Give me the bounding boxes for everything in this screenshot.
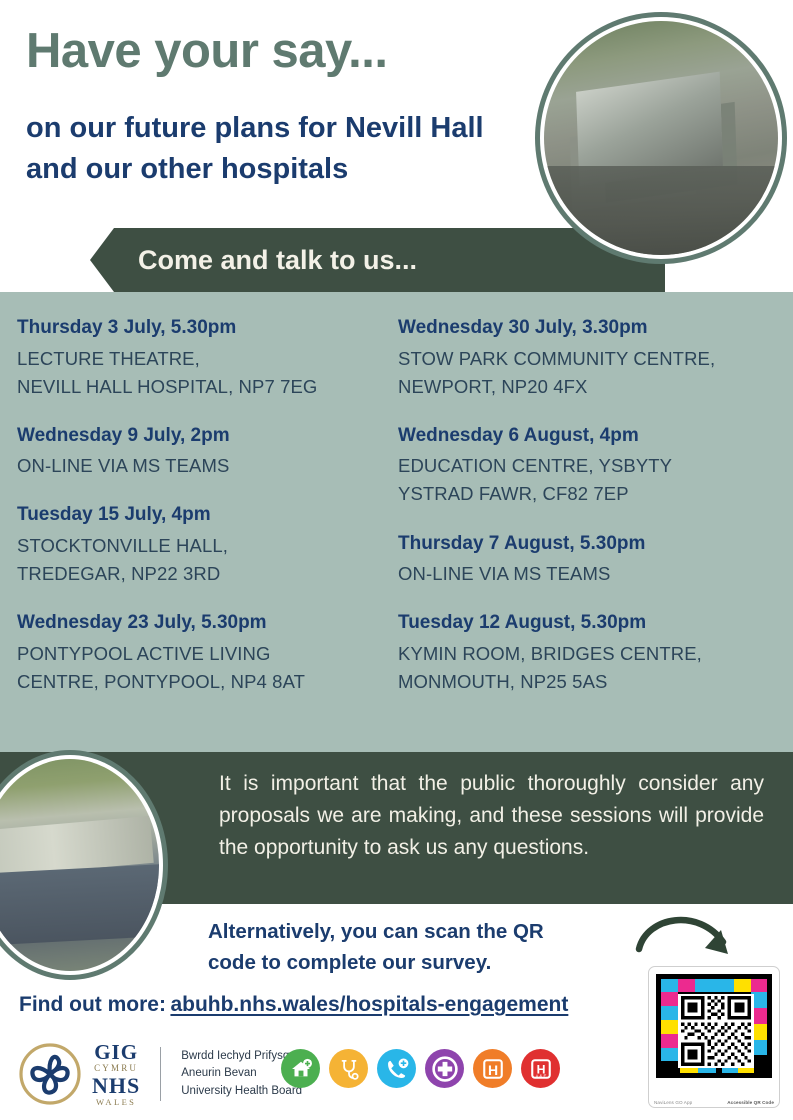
curved-arrow-icon (633, 902, 743, 972)
accident-emergency-icon: H A & E (521, 1049, 560, 1088)
event-venue-line: LECTURE THEATRE, (17, 345, 395, 373)
event-venue-line: EDUCATION CENTRE, YSBYTY (398, 452, 786, 480)
service-icon-row: H H A & E (281, 1049, 560, 1088)
event-date: Wednesday 9 July, 2pm (17, 422, 395, 450)
event-venue-line: NEVILL HALL HOSPITAL, NP7 7EG (17, 373, 395, 401)
grange-photo-image (0, 759, 159, 971)
event-venue-line: STOCKTONVILLE HALL, (17, 532, 395, 560)
wales-text: WALES (96, 1098, 136, 1107)
hero-hospital-photo (535, 12, 787, 264)
poster-root: Have your say... on our future plans for… (0, 0, 793, 1120)
event-date: Tuesday 12 August, 5.30pm (398, 609, 786, 637)
engagement-url-link[interactable]: abuhb.nhs.wales/hospitals-engagement (170, 993, 568, 1016)
event-venue-line: CENTRE, PONTYPOOL, NP4 8AT (17, 668, 395, 696)
events-panel: Thursday 3 July, 5.30pm LECTURE THEATRE,… (0, 292, 793, 752)
event-venue-line: TREDEGAR, NP22 3RD (17, 560, 395, 588)
event-venue-line: KYMIN ROOM, BRIDGES CENTRE, (398, 640, 786, 668)
gig-text: GIG (94, 1042, 138, 1063)
event-item: Thursday 3 July, 5.30pm LECTURE THEATRE,… (17, 314, 395, 401)
nhs-text: NHS (92, 1075, 140, 1097)
stethoscope-icon (329, 1049, 368, 1088)
page-subtitle: on our future plans for Nevill Hall and … (26, 108, 526, 190)
event-date: Tuesday 15 July, 4pm (17, 501, 395, 529)
home-plus-icon (281, 1049, 320, 1088)
qr-type-caption: Accessible QR Code (727, 1100, 774, 1105)
event-item: Wednesday 30 July, 3.30pm STOW PARK COMM… (398, 314, 786, 401)
events-column-left: Thursday 3 July, 5.30pm LECTURE THEATRE,… (17, 314, 395, 717)
event-venue-line: YSTRAD FAWR, CF82 7EP (398, 480, 786, 508)
qr-matrix (680, 996, 752, 1066)
qr-app-caption: NaviLens GO App (654, 1100, 692, 1105)
qr-caption-row: NaviLens GO App Accessible QR Code (649, 1100, 779, 1105)
events-column-right: Wednesday 30 July, 3.30pm STOW PARK COMM… (398, 314, 786, 717)
cymru-text: CYMRU (94, 1064, 138, 1073)
event-item: Tuesday 12 August, 5.30pm KYMIN ROOM, BR… (398, 609, 786, 696)
page-title: Have your say... (26, 26, 388, 77)
celtic-knot-icon (18, 1042, 82, 1106)
banner-label: Come and talk to us... (138, 228, 417, 292)
hero-photo-ring (540, 17, 782, 259)
event-item: Thursday 7 August, 5.30pm ON-LINE VIA MS… (398, 530, 786, 589)
event-item: Tuesday 15 July, 4pm STOCKTONVILLE HALL,… (17, 501, 395, 588)
alternative-line-2: code to complete our survey. (208, 947, 628, 978)
event-item: Wednesday 23 July, 5.30pm PONTYPOOL ACTI… (17, 609, 395, 696)
nhs-wales-logo: GIG CYMRU NHS WALES Bwrdd Iechyd Prifysg… (18, 1042, 302, 1107)
medical-cross-icon (425, 1049, 464, 1088)
event-venue-line: PONTYPOOL ACTIVE LIVING (17, 640, 395, 668)
alternative-line-1: Alternatively, you can scan the QR (208, 916, 628, 947)
event-item: Wednesday 6 August, 4pm EDUCATION CENTRE… (398, 422, 786, 509)
hero-photo-image (544, 21, 778, 255)
qr-code-card[interactable]: NaviLens GO App Accessible QR Code (648, 966, 780, 1108)
hospital-h-icon: H (473, 1049, 512, 1088)
event-venue-line: NEWPORT, NP20 4FX (398, 373, 786, 401)
alternative-text: Alternatively, you can scan the QR code … (208, 916, 628, 978)
svg-text:A & E: A & E (535, 1073, 546, 1078)
event-venue-line: ON-LINE VIA MS TEAMS (398, 560, 786, 588)
phone-plus-icon (377, 1049, 416, 1088)
qr-code-image (656, 974, 772, 1078)
logo-divider (160, 1047, 161, 1101)
event-venue-line: MONMOUTH, NP25 5AS (398, 668, 786, 696)
event-date: Wednesday 30 July, 3.30pm (398, 314, 786, 342)
svg-text:H: H (487, 1062, 497, 1078)
event-date: Thursday 3 July, 5.30pm (17, 314, 395, 342)
event-venue-line: STOW PARK COMMUNITY CENTRE, (398, 345, 786, 373)
quote-text: It is important that the public thorough… (219, 768, 764, 864)
event-date: Wednesday 6 August, 4pm (398, 422, 786, 450)
grange-photo-ring (0, 755, 163, 975)
event-date: Wednesday 23 July, 5.30pm (17, 609, 395, 637)
event-venue-line: ON-LINE VIA MS TEAMS (17, 452, 395, 480)
find-out-more-label: Find out more: (19, 993, 166, 1016)
nhs-wordmark: GIG CYMRU NHS WALES (92, 1042, 140, 1107)
event-item: Wednesday 9 July, 2pm ON-LINE VIA MS TEA… (17, 422, 395, 481)
event-date: Thursday 7 August, 5.30pm (398, 530, 786, 558)
